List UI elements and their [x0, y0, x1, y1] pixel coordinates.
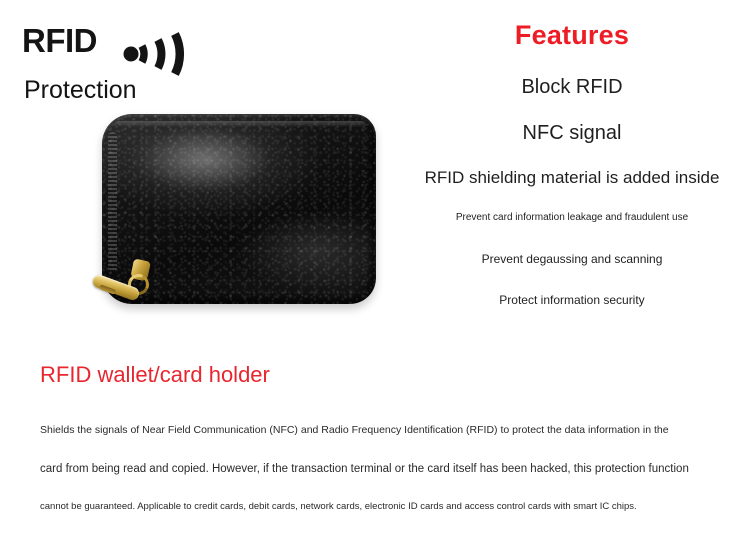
feature-line-protect-security: Protect information security	[398, 293, 746, 308]
description-line-2: card from being read and copied. However…	[40, 463, 712, 475]
feature-line-block-rfid: Block RFID	[398, 75, 746, 100]
description-line-1: Shields the signals of Near Field Commun…	[40, 424, 712, 436]
feature-line-prevent-leakage: Prevent card information leakage and fra…	[398, 212, 746, 225]
product-title: RFID wallet/card holder	[40, 364, 270, 386]
rfid-logo-word: RFID	[22, 24, 97, 57]
rfid-protection-logo: RFID Protection	[22, 24, 212, 114]
features-panel: Features Block RFID NFC signal RFID shie…	[398, 22, 746, 308]
rfid-logo-subtitle: Protection	[24, 78, 137, 103]
gold-zipper-pull	[88, 256, 166, 314]
rfid-signal-waves-icon	[117, 18, 212, 76]
features-heading: Features	[398, 22, 746, 49]
wallet-top-zipper-track	[114, 121, 366, 130]
feature-line-shielding-material: RFID shielding material is added inside	[398, 167, 746, 188]
wallet-product-image	[88, 108, 380, 313]
feature-line-prevent-degaussing: Prevent degaussing and scanning	[398, 252, 746, 267]
leather-highlight-sheen	[126, 124, 276, 194]
wallet-left-zipper-track	[108, 132, 117, 272]
product-description: Shields the signals of Near Field Commun…	[40, 424, 712, 512]
description-line-3: cannot be guaranteed. Applicable to cred…	[40, 501, 712, 512]
feature-line-nfc-signal: NFC signal	[398, 121, 746, 146]
